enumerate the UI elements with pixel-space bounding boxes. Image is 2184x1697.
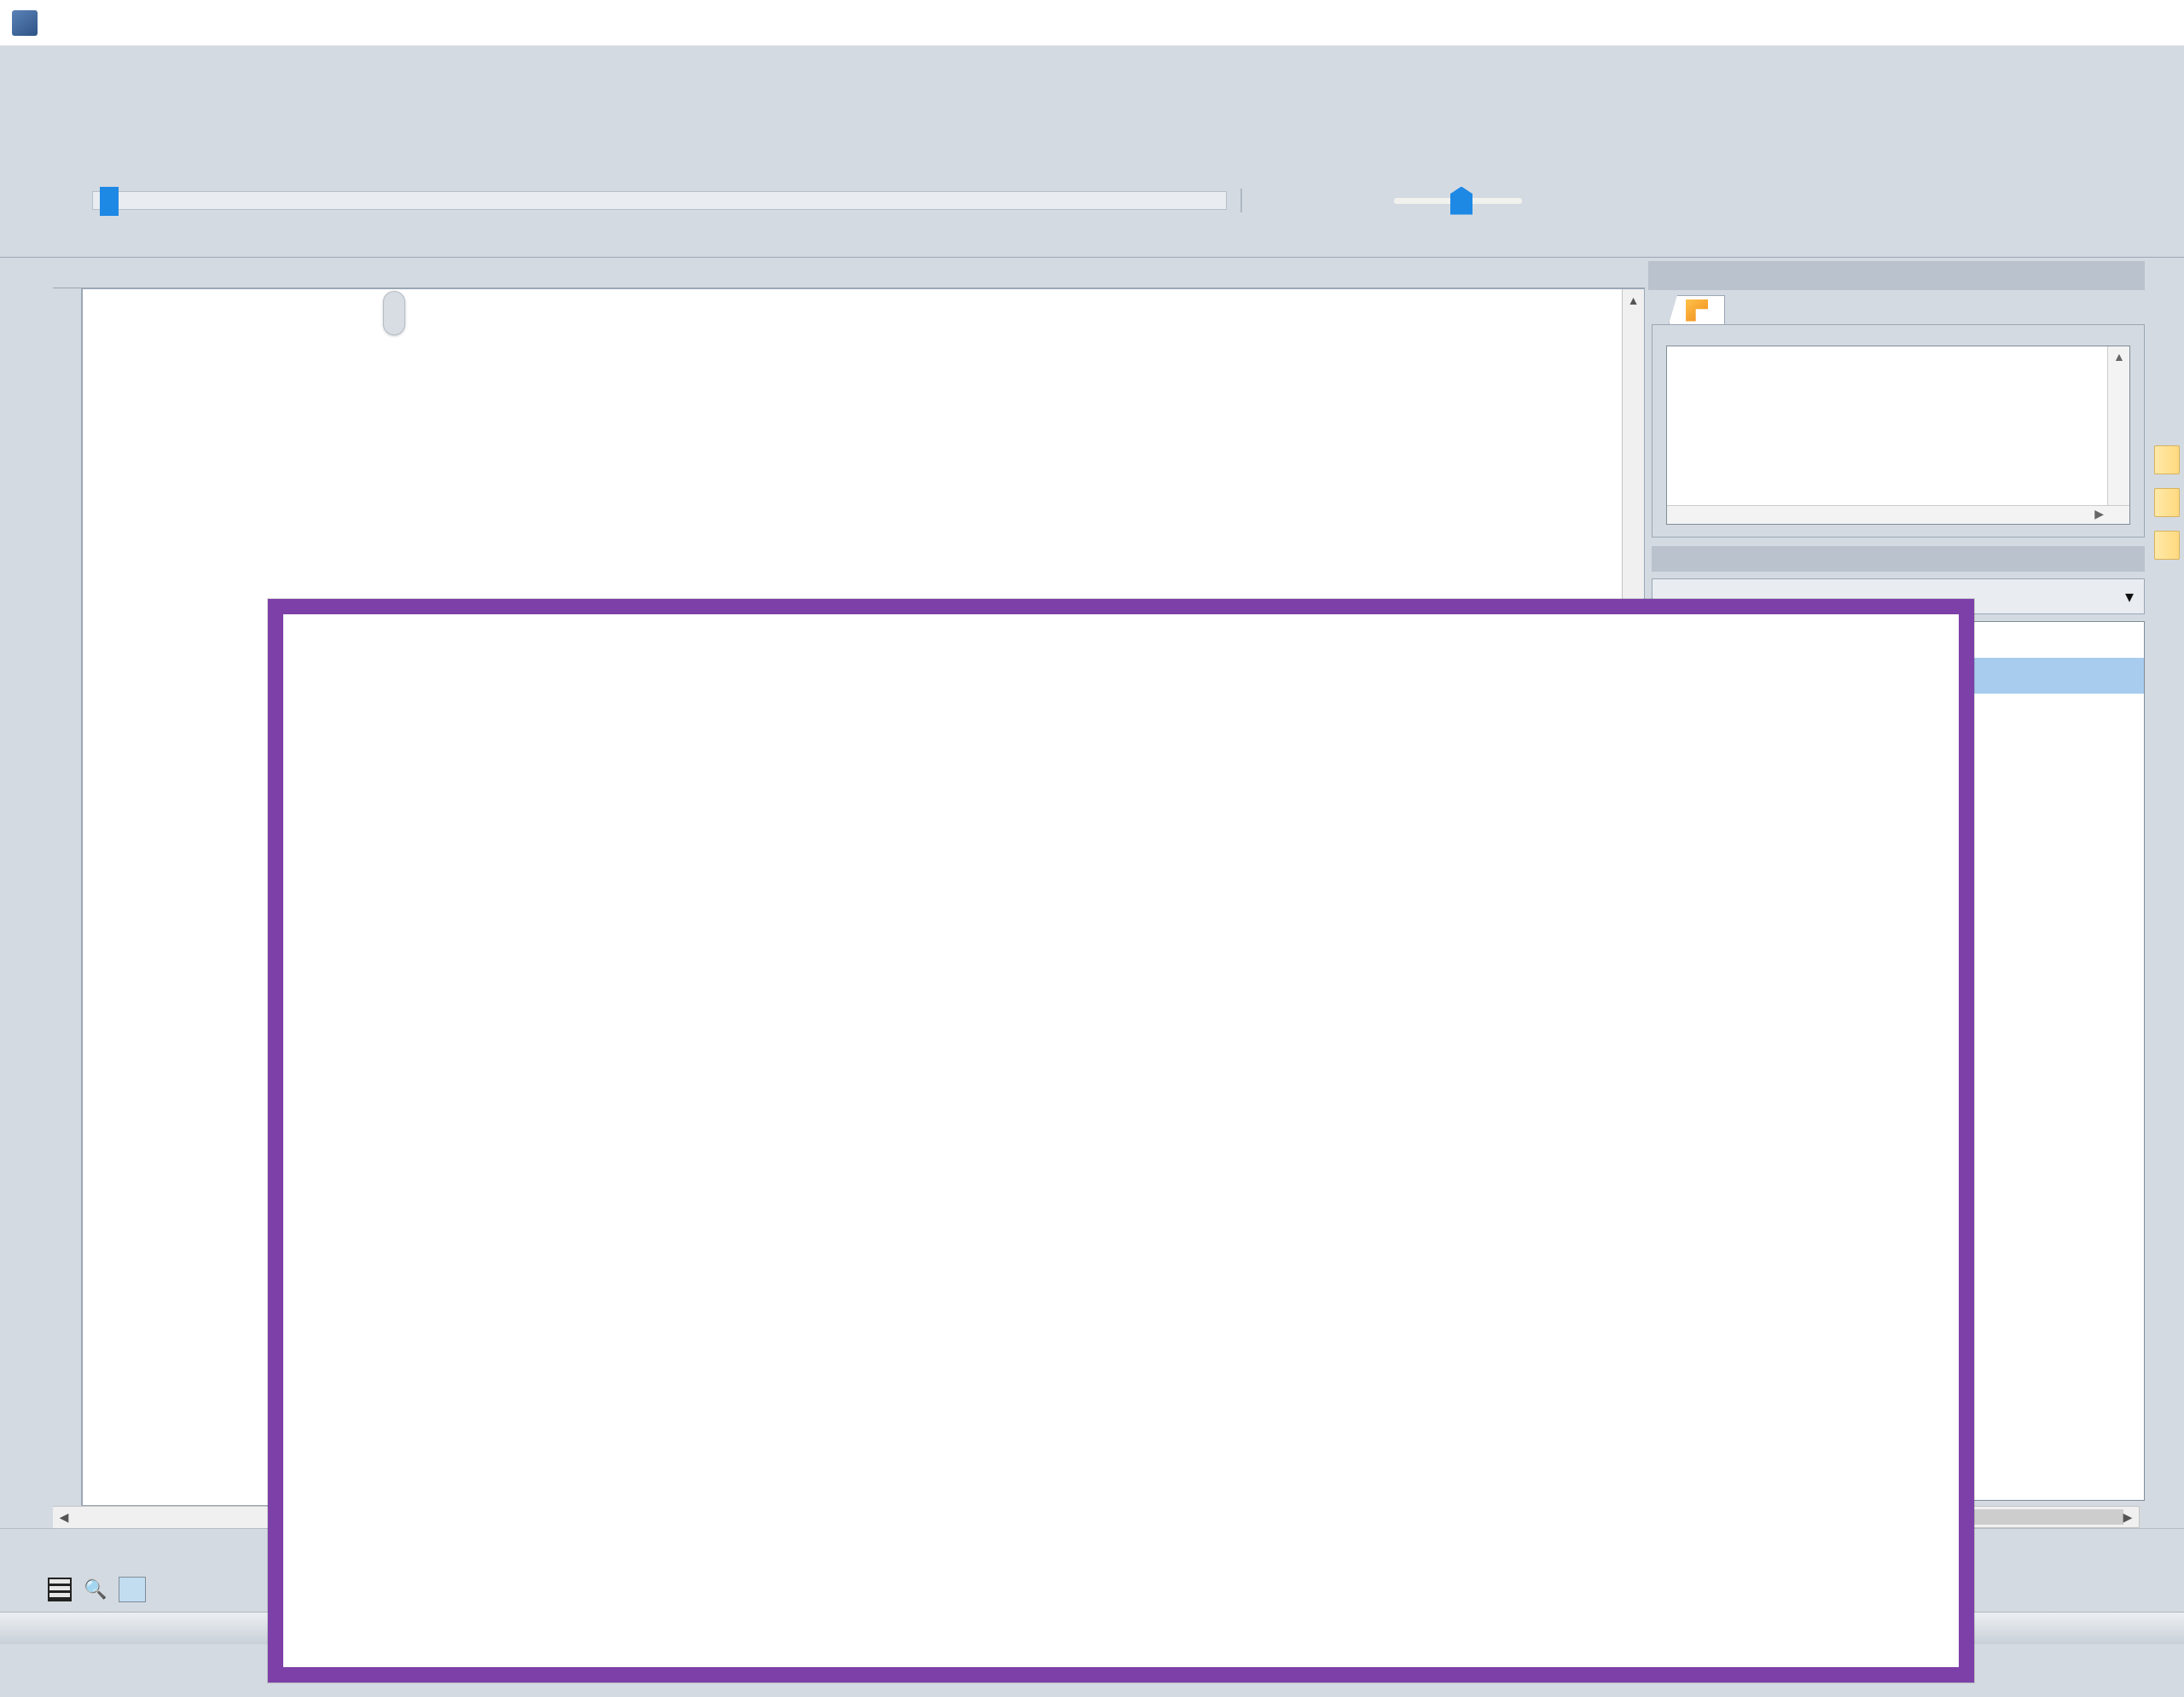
maximize-button[interactable] (2047, 0, 2116, 46)
vertical-ruler (53, 288, 82, 1506)
title-bar (0, 0, 2184, 46)
application-window: ▲ ▼ ◀ ▶ (0, 0, 2184, 1697)
close-button[interactable] (2116, 0, 2184, 46)
app-logo-icon (12, 10, 38, 36)
design-colors-nav-right (2106, 1533, 2184, 1608)
menu-bar (0, 46, 2184, 82)
menu-item-edit[interactable] (41, 60, 70, 68)
main-toolbar-row-1 (0, 82, 2184, 131)
floriani-logo-icon (1686, 299, 1708, 322)
menu-item-help[interactable] (157, 60, 186, 68)
stitch-position-slider[interactable] (92, 191, 1227, 210)
chevron-down-icon: ▾ (2125, 586, 2134, 607)
design-colors-row-top (10, 1532, 258, 1570)
palette-grid-icon[interactable] (48, 1578, 72, 1601)
divider (1240, 189, 1242, 212)
notes-scroll-up-icon[interactable]: ▲ (2113, 350, 2125, 363)
nav-right-top (2135, 1533, 2154, 1571)
notes-vertical-scrollbar[interactable]: ▲ ▼ (2107, 346, 2129, 524)
color-search-icon[interactable]: 🔍 (84, 1578, 107, 1601)
scroll-up-icon[interactable]: ▲ (1623, 289, 1644, 311)
canvas-floating-toolbar (383, 291, 405, 335)
properties-panel-title (1648, 261, 2145, 290)
properties-tab-floriani[interactable] (1669, 295, 1725, 324)
main-toolbar-row-2 (0, 131, 2184, 181)
stitch-position-thumb[interactable] (100, 187, 119, 216)
design-notes-textarea[interactable]: ▲ ▼ ▶ (1666, 346, 2130, 525)
colors-panel-header (1652, 546, 2145, 572)
horizontal-ruler-ticks (82, 258, 1645, 288)
window-controls (1979, 0, 2184, 46)
menu-item-file[interactable] (12, 60, 41, 68)
right-vertical-tab-strip (2150, 258, 2184, 1528)
left-tool-palette (0, 258, 53, 1528)
document-tab-bar (0, 220, 2184, 258)
playback-speed-thumb[interactable] (1450, 187, 1472, 215)
nav-right-bottom (2135, 1571, 2154, 1608)
ruler-corner (53, 258, 82, 288)
scroll-left-icon[interactable]: ◀ (53, 1507, 75, 1529)
properties-tab-strip (1645, 290, 2150, 324)
slide-overlay (268, 599, 1974, 1682)
dock-scroll-right-arrow-icon[interactable]: ▶ (2117, 1510, 2139, 1525)
main-area: ▲ ▼ ◀ ▶ (0, 258, 2184, 1528)
design-colors-controls: 🔍 (10, 1532, 258, 1609)
design-notes-panel: ▲ ▼ ▶ (1652, 324, 2145, 538)
design-colors-row-bottom: 🔍 (10, 1570, 258, 1609)
vertical-tab-designs[interactable] (2154, 531, 2180, 560)
menu-item-tools[interactable] (99, 60, 128, 68)
vertical-tab-browser[interactable] (2154, 445, 2180, 474)
menu-item-toolbars[interactable] (128, 60, 157, 68)
notes-horizontal-scrollbar[interactable]: ▶ (1667, 505, 2129, 524)
playback-speed-slider[interactable] (1394, 198, 1522, 204)
menu-item-view[interactable] (70, 60, 99, 68)
notes-scroll-right-icon[interactable]: ▶ (2094, 507, 2104, 521)
minimize-button[interactable] (1979, 0, 2047, 46)
stitch-playback-strip (0, 181, 2184, 220)
current-color-swatch[interactable] (119, 1577, 146, 1602)
horizontal-ruler (53, 258, 1645, 288)
vertical-tab-library[interactable] (2154, 488, 2180, 517)
